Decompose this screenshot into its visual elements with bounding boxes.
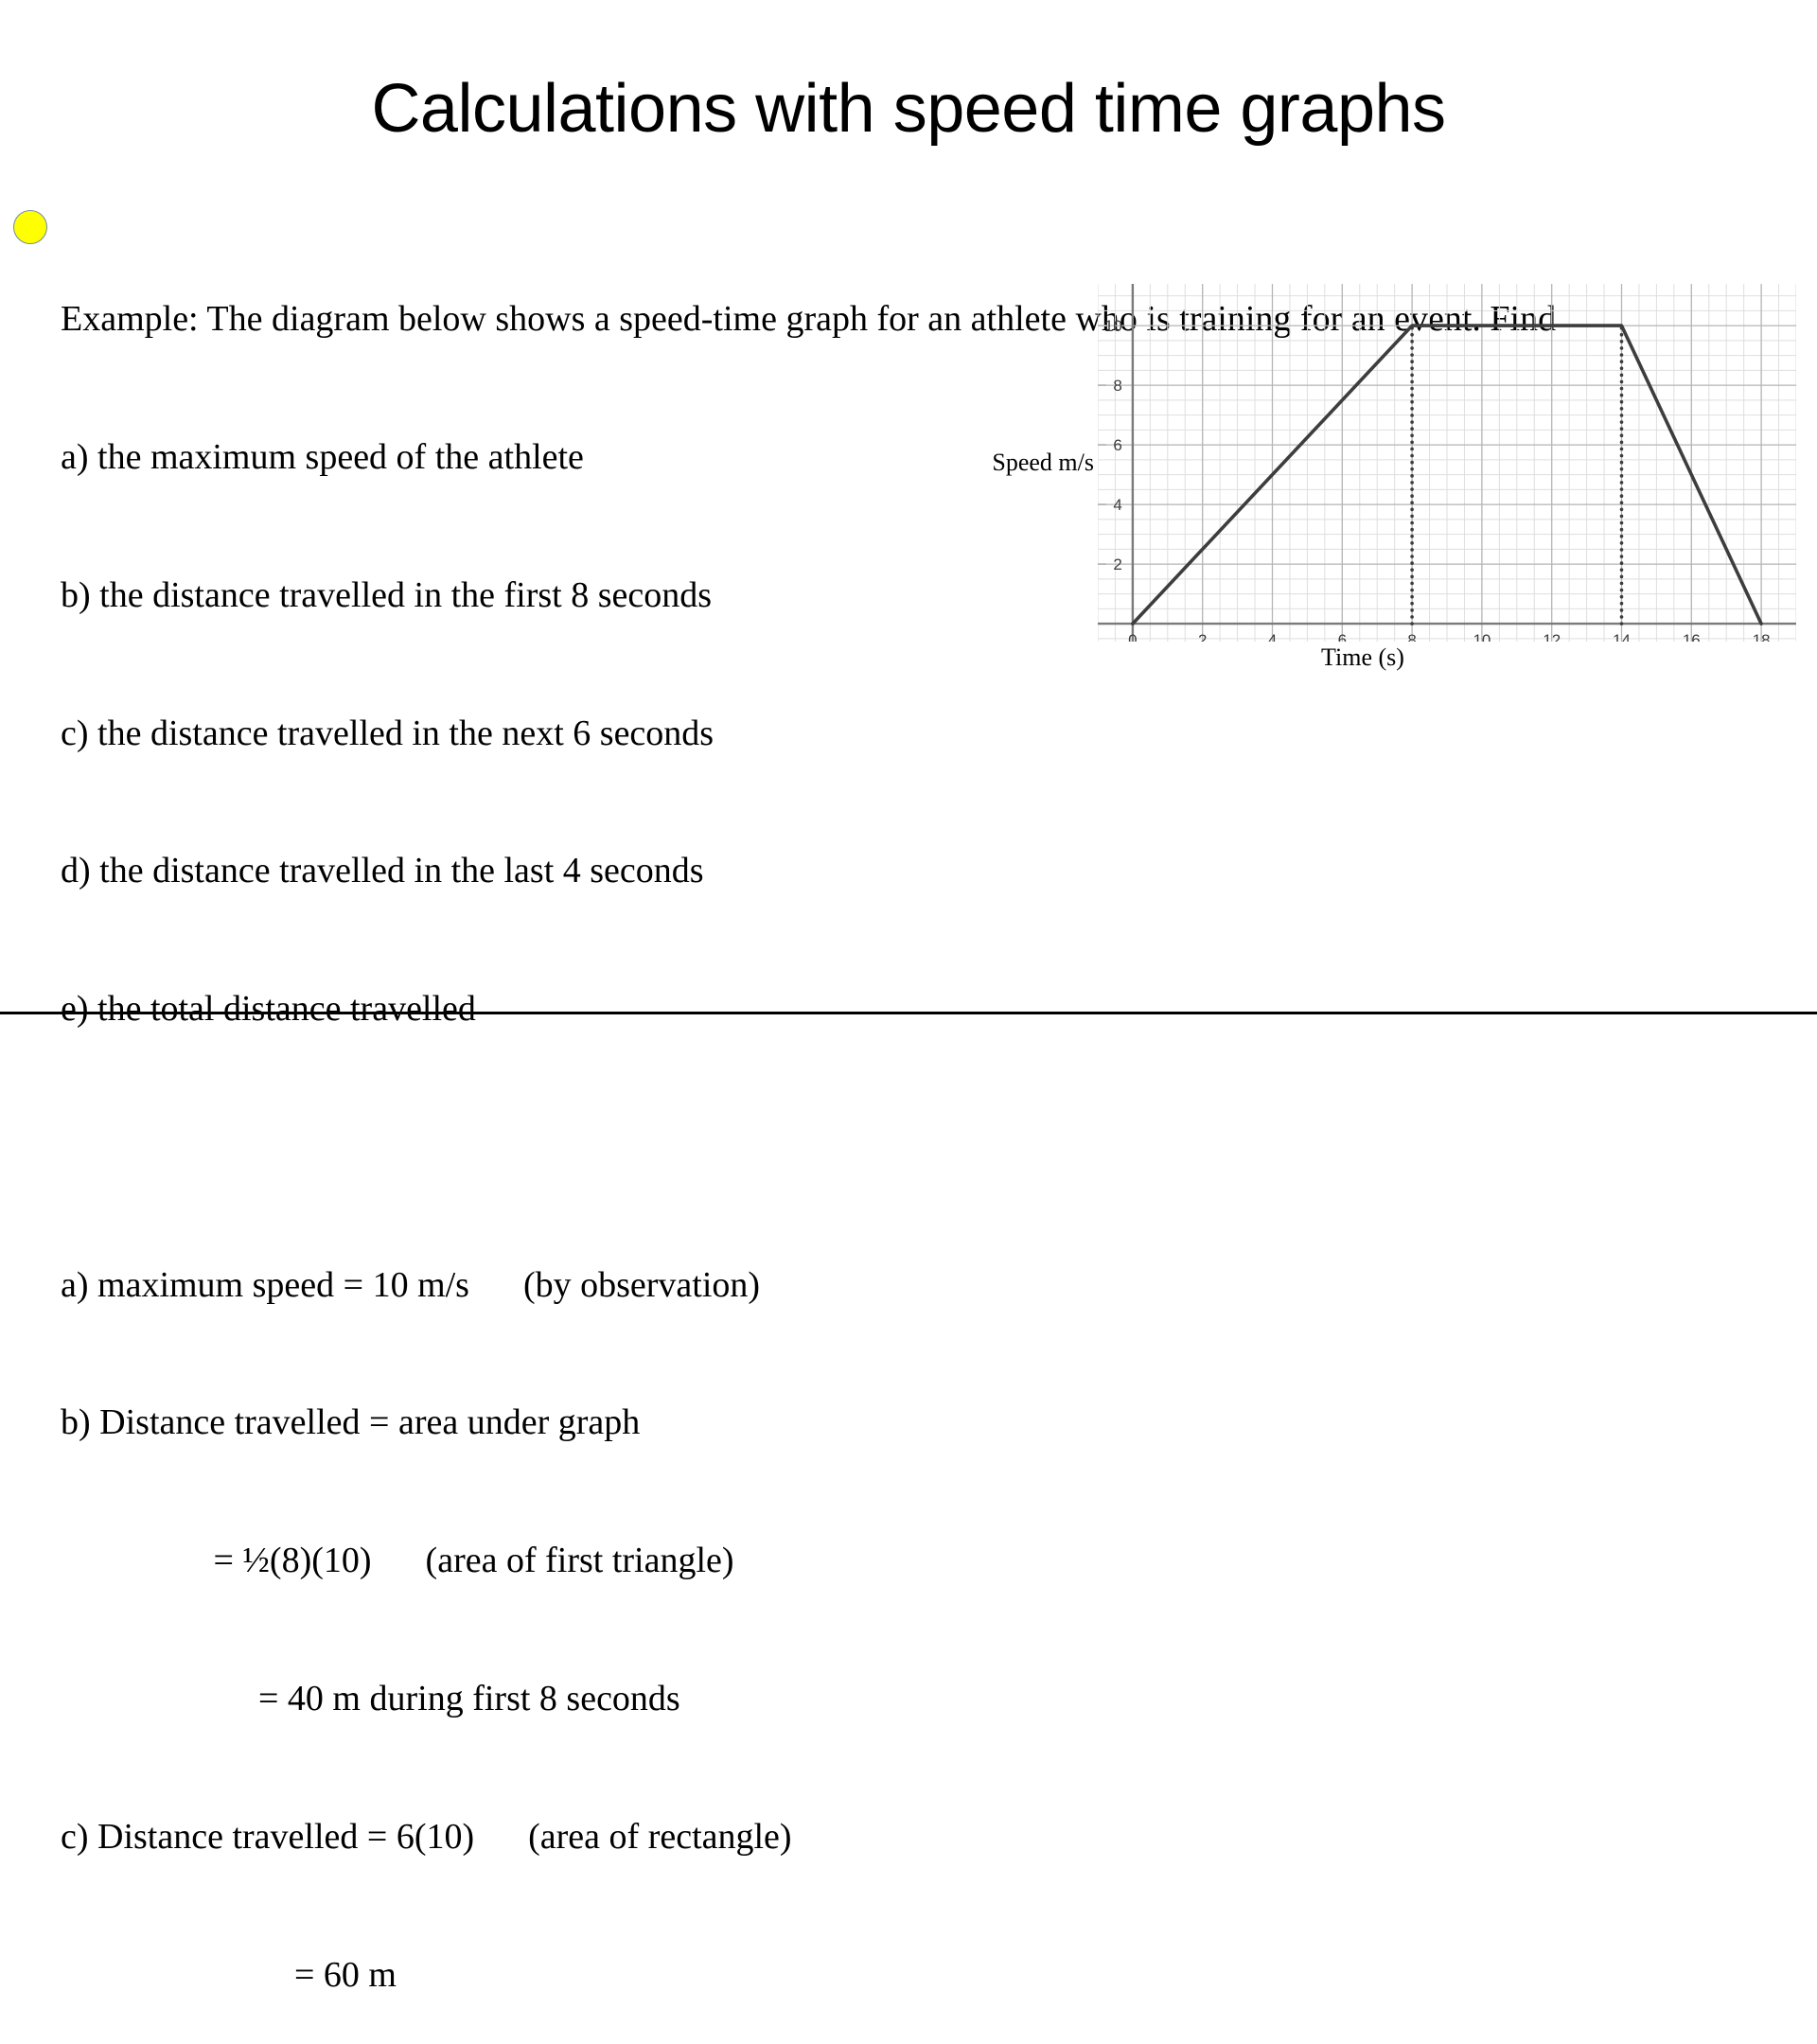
x-tick-label: 4 [1268,631,1277,642]
y-tick-label: 6 [1113,436,1121,454]
body-line: = 40 m during first 8 seconds [61,1676,1811,1722]
body-line: d) the distance travelled in the last 4 … [61,848,1811,894]
plot-area: 246810024681012141618 [1098,284,1796,642]
x-tick-label: 6 [1338,631,1347,642]
body-line: e) the total distance travelled [61,986,1811,1032]
x-tick-label: 8 [1407,631,1416,642]
body-line: c) Distance travelled = 6(10) (area of r… [61,1814,1811,1860]
yellow-circle-bullet-icon [13,210,47,244]
slide-canvas: Calculations with speed time graphs Exam… [0,0,1817,1022]
speed-time-graph: Speed m/s 246810024681012141618 Time (s) [965,273,1798,632]
x-tick-label: 12 [1543,631,1561,642]
x-tick-label: 2 [1198,631,1207,642]
x-tick-label: 16 [1683,631,1701,642]
slide-bottom-rule [0,1012,1817,1014]
body-line: = 60 m [61,1952,1811,1999]
body-line: b) Distance travelled = area under graph [61,1400,1811,1446]
y-tick-label: 4 [1113,496,1121,514]
y-tick-label: 2 [1113,555,1121,573]
body-line: a) maximum speed = 10 m/s (by observatio… [61,1262,1811,1309]
body-line-blank [61,1124,1811,1171]
body-line: = ½(8)(10) (area of first triangle) [61,1538,1811,1584]
plot-svg: 246810024681012141618 [1098,284,1796,642]
y-tick-label: 8 [1113,377,1121,395]
x-tick-label: 14 [1613,631,1631,642]
page-title: Calculations with speed time graphs [0,68,1817,150]
x-tick-label: 18 [1753,631,1771,642]
x-axis-label: Time (s) [1098,643,1628,672]
y-tick-label: 10 [1104,317,1122,335]
y-axis-label: Speed m/s [977,449,1094,477]
x-tick-label: 10 [1473,631,1491,642]
body-line: c) the distance travelled in the next 6 … [61,711,1811,757]
x-tick-label: 0 [1128,631,1137,642]
